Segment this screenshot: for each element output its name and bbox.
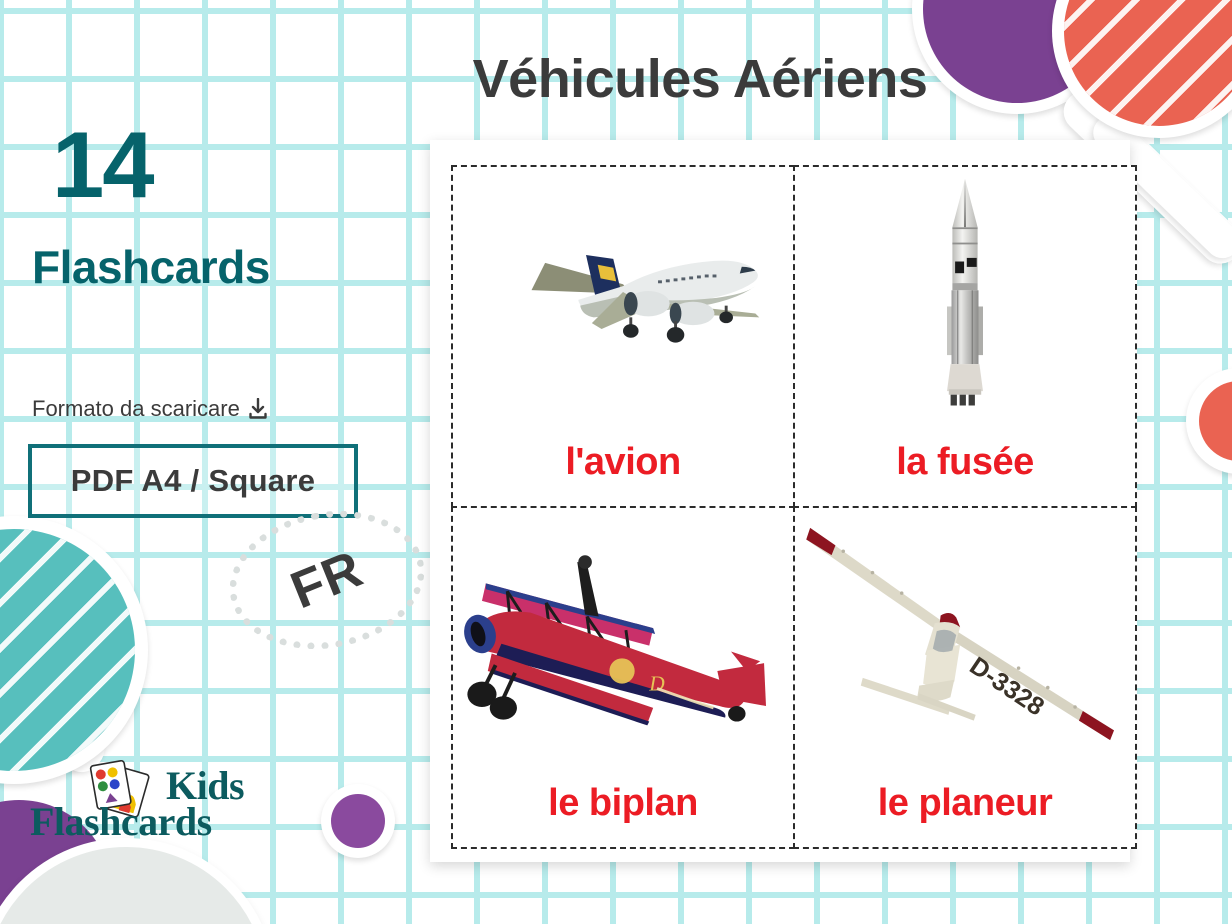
flashcard-label: le biplan — [548, 782, 698, 847]
download-icon — [248, 398, 268, 420]
page-background: 14 Flashcards Formato da scaricare PDF A… — [0, 0, 1232, 924]
flashcard-label: l'avion — [565, 441, 680, 506]
airliner-jet-photo — [453, 167, 793, 419]
format-label: Formato da scaricare — [32, 396, 240, 422]
flashcard-biplan[interactable]: D le biplan — [451, 506, 795, 849]
coral-dot-decoration — [1186, 368, 1232, 474]
glider-photo: D-3328 — [795, 508, 1135, 760]
coral-dot-face — [1199, 381, 1232, 461]
flashcard-avion[interactable]: l'avion — [451, 165, 795, 508]
coral-paddle-stripes — [1064, 0, 1232, 126]
pdf-format-badge-label: PDF A4 / Square — [71, 463, 316, 499]
flashcard-label: le planeur — [878, 782, 1053, 847]
language-stamp: FR — [229, 512, 425, 648]
kids-flashcards-logo[interactable]: Kids Flashcards — [28, 756, 284, 852]
page-title: Véhicules Aériens — [430, 48, 970, 110]
flashcard-sheet: l'avion — [430, 140, 1130, 862]
sidebar: 14 Flashcards Formato da scaricare PDF A… — [0, 0, 420, 924]
biplane-photo: D — [453, 508, 793, 760]
flashcard-count: 14 — [52, 118, 153, 212]
format-row: Formato da scaricare — [32, 396, 268, 422]
flashcard-count-label: Flashcards — [32, 240, 270, 294]
rocket-photo — [795, 167, 1135, 419]
pdf-format-badge[interactable]: PDF A4 / Square — [28, 444, 358, 518]
flashcard-label: la fusée — [896, 441, 1034, 506]
flashcard-fusee[interactable]: la fusée — [793, 165, 1137, 508]
coral-paddle-face — [1064, 0, 1232, 126]
coral-paddle-decoration — [1052, 0, 1232, 138]
flashcard-planeur[interactable]: D-3328 le planeur — [793, 506, 1137, 849]
logo-text-line2: Flashcards — [30, 798, 212, 845]
flashcard-grid: l'avion — [452, 166, 1136, 848]
